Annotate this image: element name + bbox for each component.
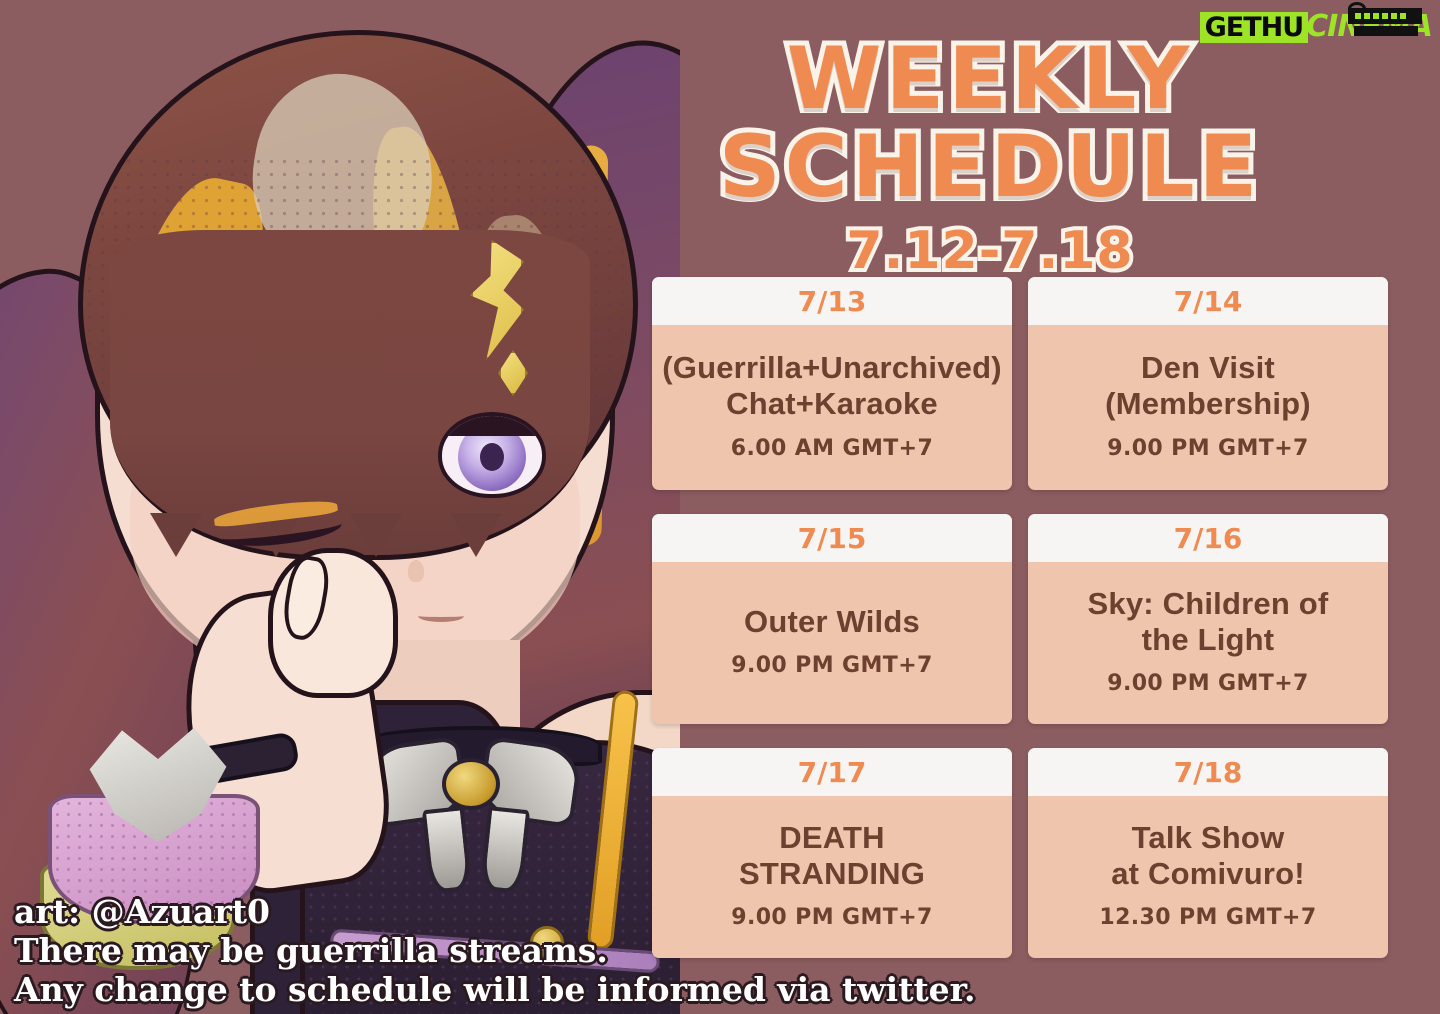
schedule-grid: 7/13 (Guerrilla+Unarchived) Chat+Karaoke… (652, 277, 1388, 958)
card-date: 7/17 (798, 756, 867, 789)
pupil (480, 443, 504, 471)
footer-notes: art: @Azuart0 There may be guerrilla str… (14, 893, 914, 1010)
card-date: 7/14 (1174, 285, 1243, 318)
card-title: Talk Show at Comivuro! (1111, 820, 1305, 892)
note-changes: Any change to schedule will be informed … (14, 971, 914, 1010)
ribbon-bow (368, 742, 578, 828)
hair-bangs (110, 230, 590, 560)
eyelash (438, 412, 546, 436)
card-header: 7/15 (652, 514, 1012, 562)
card-body: (Guerrilla+Unarchived) Chat+Karaoke 6.00… (652, 325, 1012, 490)
card-date: 7/15 (798, 522, 867, 555)
card-time: 12.30 PM GMT+7 (1099, 905, 1316, 930)
card-time: 6.00 AM GMT+7 (731, 436, 933, 461)
card-body: Sky: Children of the Light 9.00 PM GMT+7 (1028, 562, 1388, 724)
schedule-card[interactable]: 7/15 Outer Wilds 9.00 PM GMT+7 (652, 514, 1012, 724)
page-title: WEEKLY SCHEDULE (540, 36, 1440, 211)
card-header: 7/13 (652, 277, 1012, 325)
header-block: WEEKLY SCHEDULE 7.12-7.18 (540, 36, 1440, 281)
eye-open (438, 412, 546, 498)
schedule-card[interactable]: 7/16 Sky: Children of the Light 9.00 PM … (1028, 514, 1388, 724)
artist-credit: art: @Azuart0 (14, 893, 914, 932)
card-header: 7/14 (1028, 277, 1388, 325)
schedule-card[interactable]: 7/13 (Guerrilla+Unarchived) Chat+Karaoke… (652, 277, 1012, 490)
card-date: 7/13 (798, 285, 867, 318)
card-date: 7/18 (1174, 756, 1243, 789)
schedule-card[interactable]: 7/14 Den Visit (Membership) 9.00 PM GMT+… (1028, 277, 1388, 490)
nose (408, 560, 424, 582)
film-camera-icon (1330, 2, 1422, 24)
card-body: Talk Show at Comivuro! 12.30 PM GMT+7 (1028, 796, 1388, 958)
card-title: DEATH STRANDING (739, 820, 925, 892)
card-title: Outer Wilds (744, 604, 920, 640)
note-guerrilla: There may be guerrilla streams. (14, 932, 914, 971)
card-time: 9.00 PM GMT+7 (731, 653, 933, 678)
card-title: Den Visit (Membership) (1105, 350, 1311, 422)
card-header: 7/16 (1028, 514, 1388, 562)
card-header: 7/18 (1028, 748, 1388, 796)
card-time: 9.00 PM GMT+7 (1107, 671, 1309, 696)
card-header: 7/17 (652, 748, 1012, 796)
card-time: 9.00 PM GMT+7 (1107, 436, 1309, 461)
card-body: Den Visit (Membership) 9.00 PM GMT+7 (1028, 325, 1388, 490)
card-title: Sky: Children of the Light (1088, 586, 1329, 658)
card-title: (Guerrilla+Unarchived) Chat+Karaoke (662, 350, 1001, 422)
schedule-poster: GETHU CINEMA WEEKLY SCHEDULE 7.12-7.18 7… (0, 0, 1440, 1014)
schedule-card[interactable]: 7/18 Talk Show at Comivuro! 12.30 PM GMT… (1028, 748, 1388, 958)
bow-gem (442, 758, 500, 810)
card-body: Outer Wilds 9.00 PM GMT+7 (652, 562, 1012, 724)
mouth (418, 610, 464, 622)
card-date: 7/16 (1174, 522, 1243, 555)
date-range-subtitle: 7.12-7.18 (540, 221, 1440, 281)
